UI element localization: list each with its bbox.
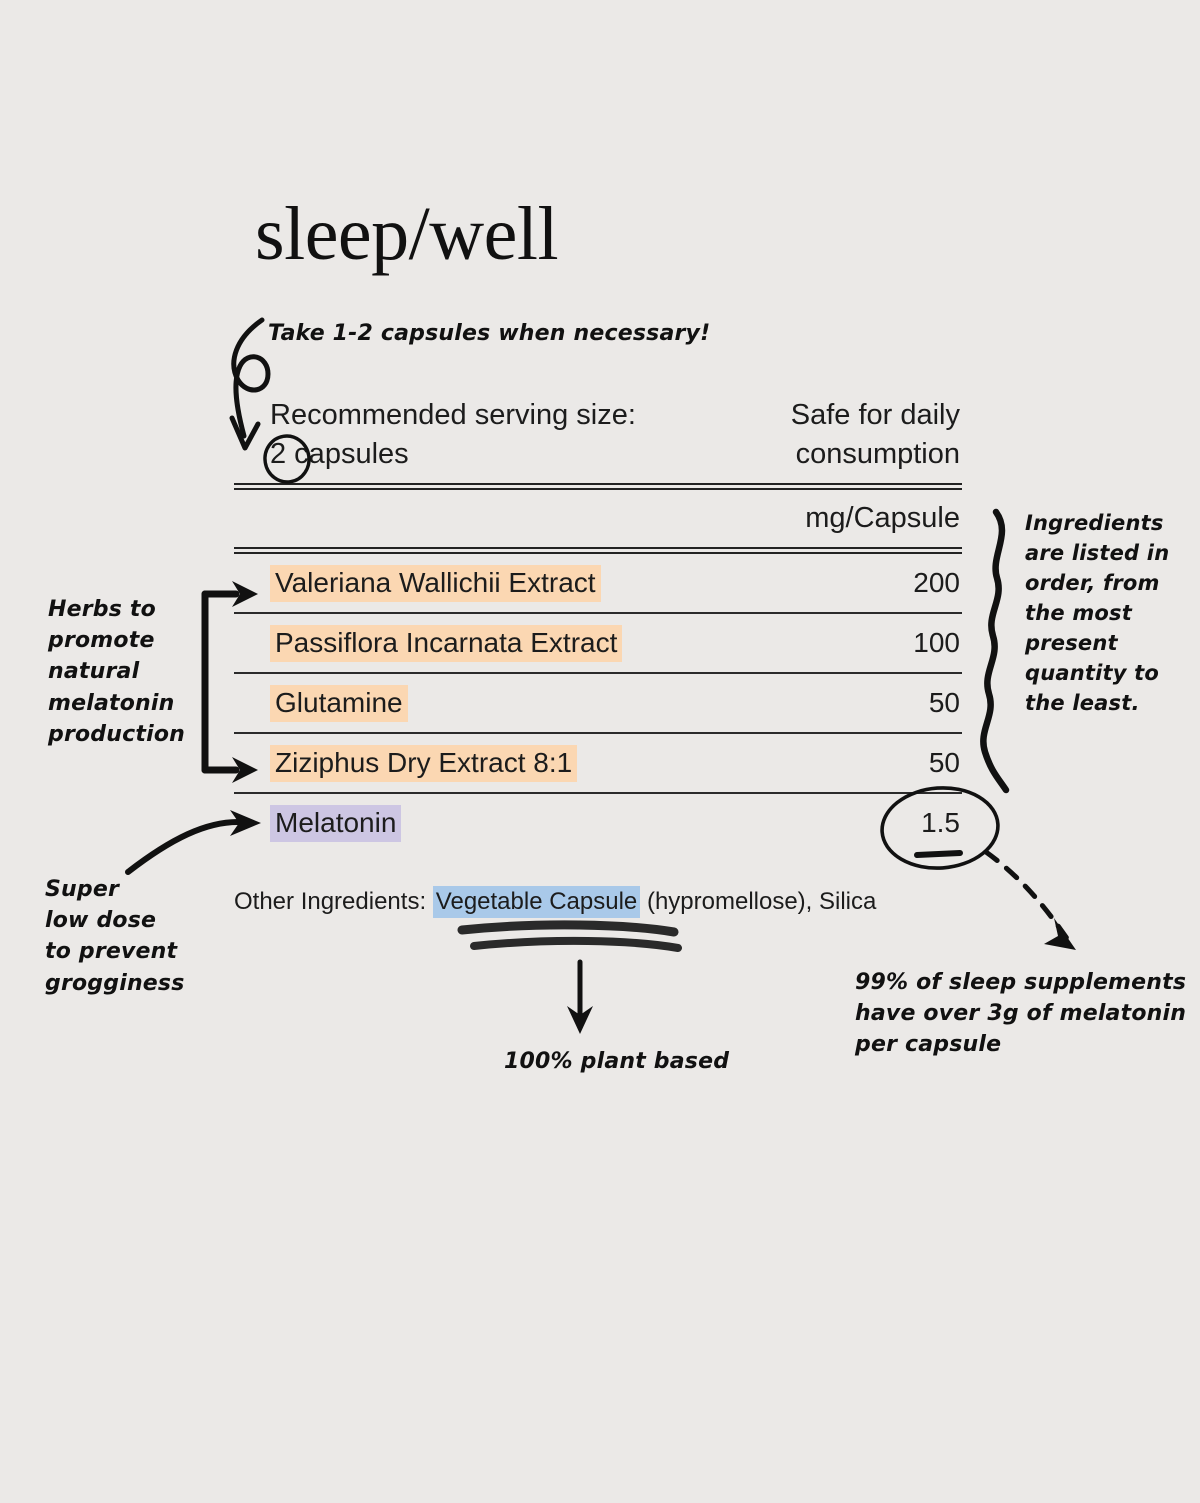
daily-consumption-note: Safe for daily consumption <box>791 396 962 473</box>
supplement-facts-panel: Recommended serving size: 2 capsules Saf… <box>234 396 962 852</box>
double-underline-icon <box>462 925 678 948</box>
herbs-bracket-arrow-icon <box>205 594 236 770</box>
melatonin-arrow-icon <box>128 822 238 872</box>
ingredient-amount: 1.5 <box>921 807 960 839</box>
vegetable-capsule-highlight: Vegetable Capsule <box>433 886 641 918</box>
table-row: Ziziphus Dry Extract 8:150 <box>234 734 962 792</box>
supplement-facts-page: sleep/well Take 1-2 capsules when necess… <box>0 0 1200 1503</box>
wavy-brace-icon <box>983 512 1006 790</box>
table-header-rule <box>234 547 962 554</box>
annotation-melatonin-stat: 99% of sleep supplements have over 3g of… <box>855 968 1186 1060</box>
dashed-arrowhead-icon <box>1044 918 1076 950</box>
other-ingredients-suffix: (hypromellose), Silica <box>640 888 876 915</box>
plant-based-arrowhead-icon <box>567 1006 593 1034</box>
table-row: Glutamine50 <box>234 674 962 732</box>
annotation-plant-based: 100% plant based <box>504 1048 729 1076</box>
ingredient-amount: 50 <box>929 687 960 719</box>
annotation-take-capsules: Take 1-2 capsules when necessary! <box>268 320 710 348</box>
brand-logo: sleep/well <box>255 196 558 272</box>
ingredient-amount: 100 <box>913 627 960 659</box>
serving-size-label: Recommended serving size: 2 capsules <box>234 396 636 473</box>
other-ingredients-line: Other Ingredients: Vegetable Capsule (hy… <box>234 888 876 916</box>
serving-header: Recommended serving size: 2 capsules Saf… <box>234 396 962 483</box>
ingredient-name: Glutamine <box>270 685 408 722</box>
table-row: Valeriana Wallichii Extract200 <box>234 554 962 612</box>
table-row: Melatonin1.5 <box>234 794 962 852</box>
dashed-arrow-icon <box>986 852 1068 940</box>
table-top-rule <box>234 483 962 490</box>
ingredient-amount: 50 <box>929 747 960 779</box>
annotation-ingredient-order: Ingredients are listed in order, from th… <box>1025 508 1169 718</box>
table-row: Passiflora Incarnata Extract100 <box>234 614 962 672</box>
annotation-herbs: Herbs to promote natural melatonin produ… <box>48 594 185 750</box>
ingredient-rows: Valeriana Wallichii Extract200Passiflora… <box>234 554 962 852</box>
unit-header: mg/Capsule <box>234 490 962 547</box>
annotation-super-low-dose: Super low dose to prevent grogginess <box>45 874 185 999</box>
ingredient-name: Ziziphus Dry Extract 8:1 <box>270 745 577 782</box>
ingredient-name: Melatonin <box>270 805 401 842</box>
ingredient-name: Valeriana Wallichii Extract <box>270 565 601 602</box>
ingredient-amount: 200 <box>913 567 960 599</box>
ingredient-name: Passiflora Incarnata Extract <box>270 625 622 662</box>
other-ingredients-prefix: Other Ingredients: <box>234 888 433 915</box>
